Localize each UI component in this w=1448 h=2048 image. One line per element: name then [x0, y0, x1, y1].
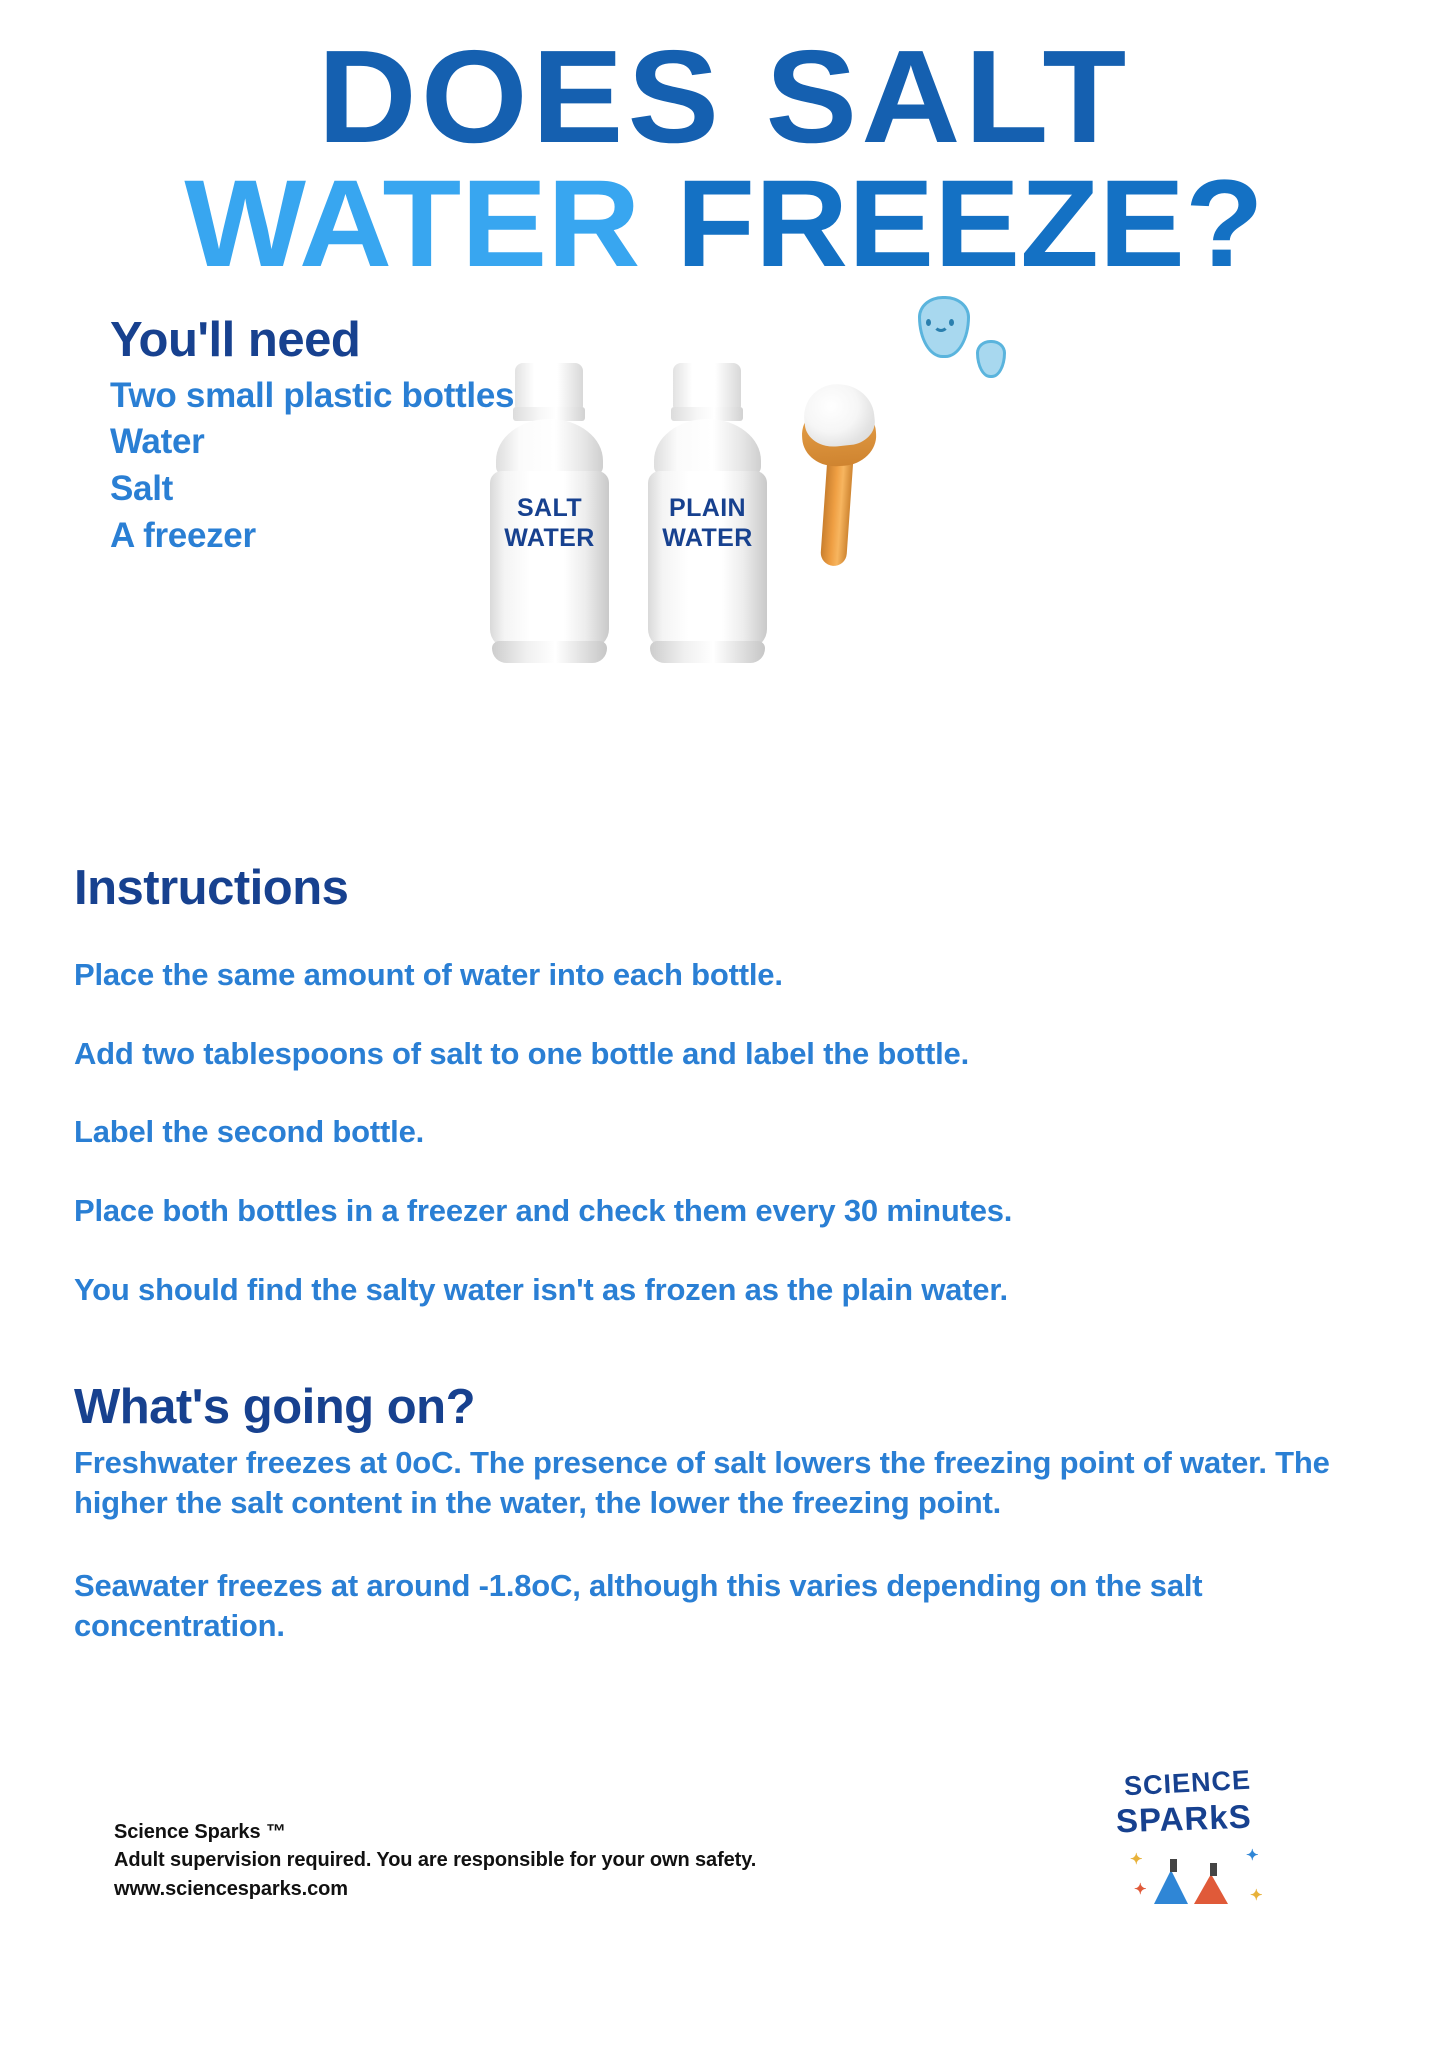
salt-pile-icon [801, 381, 877, 450]
water-drop-large-icon [918, 296, 970, 358]
flask-blue-icon [1154, 1870, 1188, 1904]
flask-red-icon [1194, 1874, 1228, 1904]
drop-face-icon [924, 319, 958, 341]
sparkle-icon: ✦ [1134, 1880, 1147, 1898]
footer: Science Sparks ™ Adult supervision requi… [114, 1818, 1014, 1903]
bottle-shoulder-icon [654, 419, 761, 477]
salt-spoon-icon [790, 368, 890, 568]
title-word-water: WATER [184, 155, 640, 293]
footer-website: www.sciencesparks.com [114, 1875, 1014, 1903]
spoon-handle-icon [820, 447, 854, 567]
explanation-paragraph: Freshwater freezes at 0oC. The presence … [74, 1443, 1364, 1522]
instruction-step: Label the second bottle. [74, 1113, 1374, 1152]
explanation-paragraph: Seawater freezes at around -1.8oC, altho… [74, 1566, 1304, 1645]
page-title: DOES SALT WATER FREEZE? [0, 34, 1448, 284]
flask-neck-icon [1210, 1863, 1217, 1876]
sparkle-icon: ✦ [1130, 1850, 1143, 1868]
bottle-label-line-1: PLAIN [648, 493, 767, 523]
explanation-heading: What's going on? [74, 1381, 1384, 1435]
footer-disclaimer: Adult supervision required. You are resp… [114, 1846, 1014, 1874]
instructions-section: Instructions Place the same amount of wa… [74, 862, 1374, 1310]
list-item: A freezer [110, 513, 540, 560]
drop-smile-icon [933, 321, 949, 332]
instruction-step: Add two tablespoons of salt to one bottl… [74, 1035, 1374, 1074]
plain-water-label: PLAIN WATER [648, 493, 767, 553]
materials-list: Two small plastic bottles Water Salt A f… [110, 373, 540, 559]
logo-word-science: SCIENCE [1123, 1765, 1251, 1803]
title-line-1: DOES SALT [0, 34, 1448, 161]
water-drop-small-icon [976, 340, 1006, 378]
drop-eye-right-icon [949, 319, 954, 326]
plain-water-bottle-icon: PLAIN WATER [638, 363, 778, 663]
bottle-cap-icon [673, 363, 741, 409]
logo-flasks-icon: ✦ ✦ ✦ ✦ [1128, 1846, 1268, 1908]
worksheet-page: DOES SALT WATER FREEZE? You'll need Two … [0, 0, 1448, 2048]
bottle-body-icon [648, 471, 767, 649]
bottle-base-icon [492, 641, 607, 663]
list-item: Two small plastic bottles [110, 373, 540, 420]
instruction-step: Place the same amount of water into each… [74, 956, 1374, 995]
materials-heading: You'll need [110, 315, 540, 367]
spoon-bowl-icon [800, 399, 878, 468]
list-item: Water [110, 419, 540, 466]
footer-brand: Science Sparks ™ [114, 1818, 1014, 1846]
water-droplets-icon [918, 296, 1028, 406]
bottle-label-line-2: WATER [648, 523, 767, 553]
list-item: Salt [110, 466, 540, 513]
instructions-heading: Instructions [74, 862, 1374, 916]
materials-section: You'll need Two small plastic bottles Wa… [110, 315, 540, 559]
flask-neck-icon [1170, 1859, 1177, 1872]
title-line-2: WATER FREEZE? [0, 165, 1448, 284]
instruction-step: You should find the salty water isn't as… [74, 1271, 1374, 1310]
explanation-section: What's going on? Freshwater freezes at 0… [74, 1381, 1384, 1646]
logo-word-sparks: SPARkS [1115, 1798, 1252, 1841]
science-sparks-logo: SCIENCE SPARkS ✦ ✦ ✦ ✦ [1110, 1768, 1290, 1918]
bottle-ring-icon [671, 407, 743, 421]
sparkle-icon: ✦ [1246, 1846, 1259, 1864]
title-word-freeze: FREEZE? [676, 155, 1264, 293]
instruction-step: Place both bottles in a freezer and chec… [74, 1192, 1374, 1231]
sparkle-icon: ✦ [1250, 1886, 1263, 1904]
bottle-base-icon [650, 641, 765, 663]
drop-eye-left-icon [926, 319, 931, 326]
